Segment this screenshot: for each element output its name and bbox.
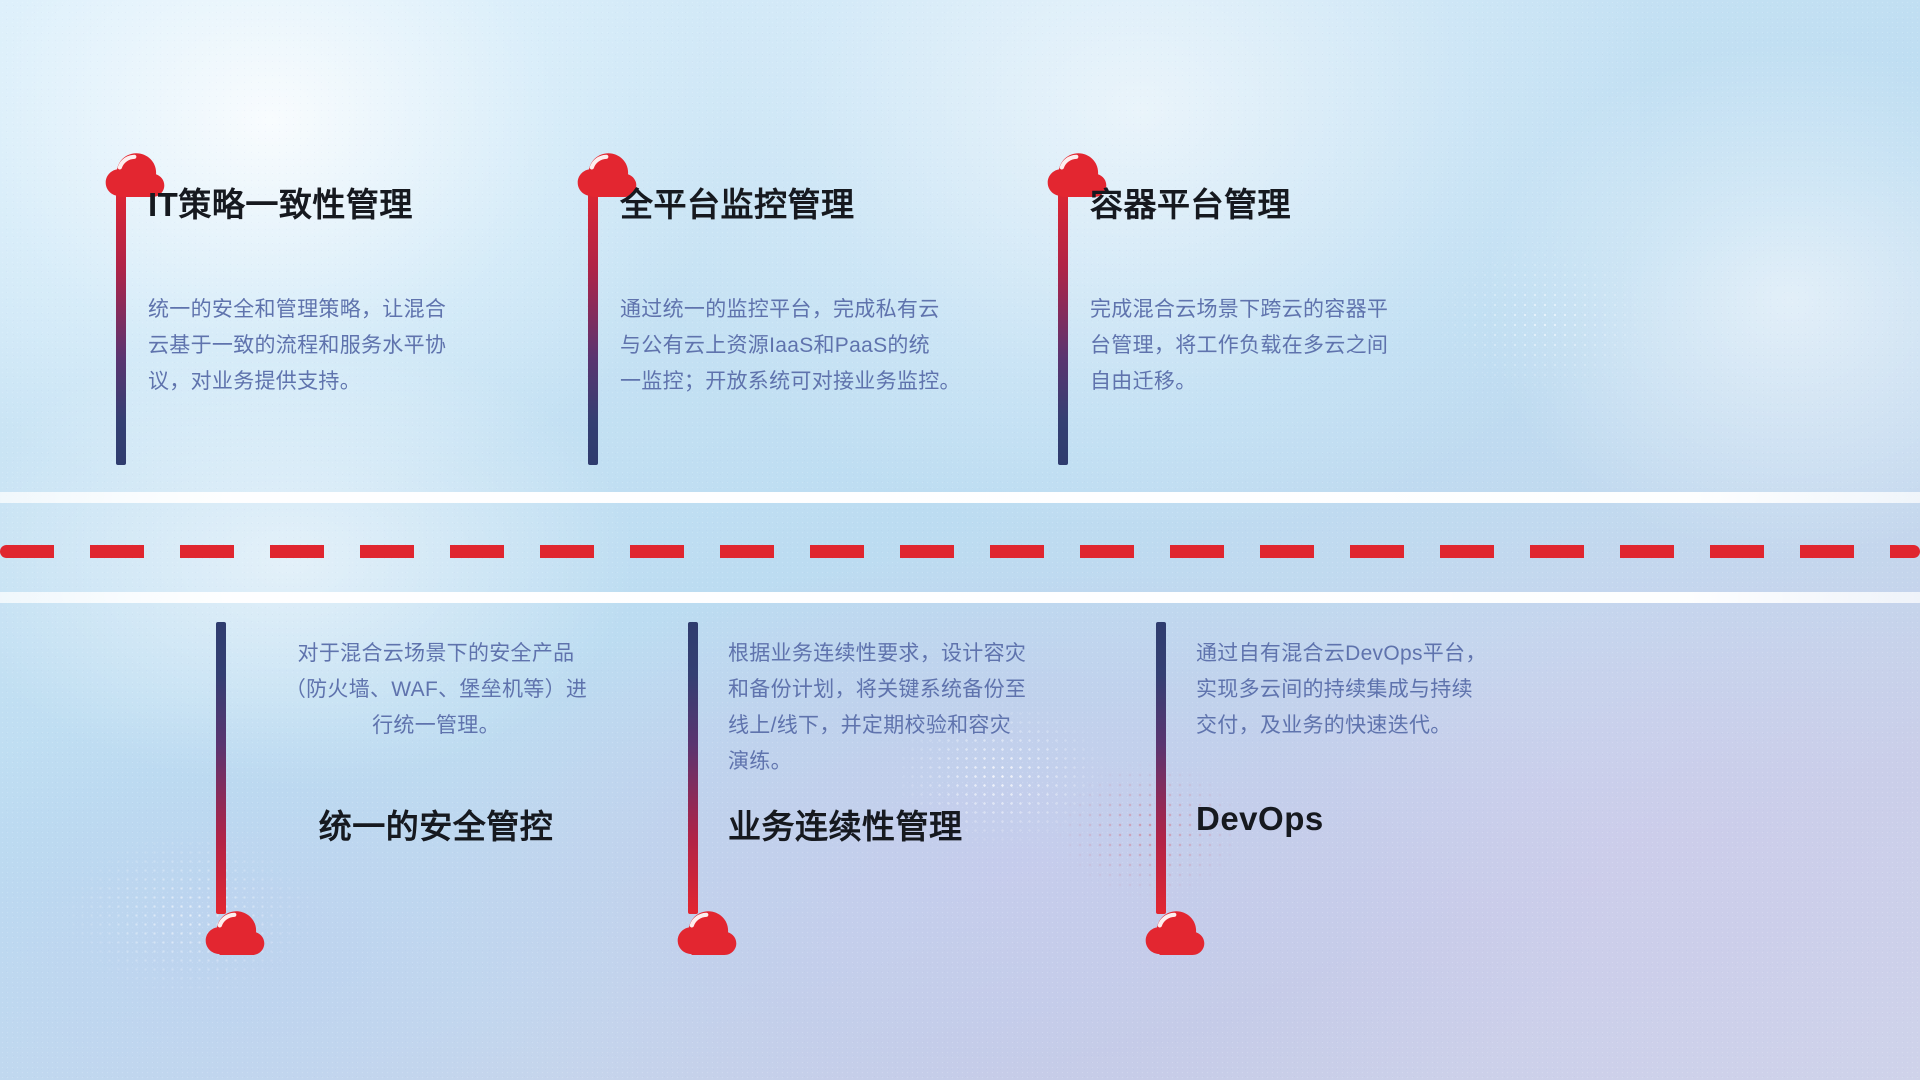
divider-band-bottom bbox=[0, 592, 1920, 603]
cloud-pin-icon bbox=[674, 904, 740, 958]
pin-unified-security bbox=[208, 622, 234, 932]
pin-devops bbox=[1148, 622, 1174, 932]
pin-it-policy-consistency bbox=[108, 160, 134, 465]
pin-stem bbox=[588, 182, 598, 465]
feature-description: 统一的安全和管理策略，让混合 云基于一致的流程和服务水平协 议，对业务提供支持。 bbox=[148, 292, 508, 400]
feature-description: 通过自有混合云DevOps平台， 实现多云间的持续集成与持续 交付，及业务的快速… bbox=[1196, 636, 1546, 744]
pin-stem bbox=[688, 622, 698, 914]
feature-description: 对于混合云场景下的安全产品 （防火墙、WAF、堡垒机等）进 行统一管理。 bbox=[256, 636, 616, 744]
feature-title: DevOps bbox=[1196, 800, 1546, 838]
pin-stem bbox=[116, 182, 126, 465]
cloud-pin-icon bbox=[202, 904, 268, 958]
feature-title: IT策略一致性管理 bbox=[148, 178, 413, 226]
feature-title: 全平台监控管理 bbox=[620, 178, 855, 226]
pin-stem bbox=[1156, 622, 1166, 914]
pin-container-platform bbox=[1050, 160, 1076, 465]
feature-title: 容器平台管理 bbox=[1090, 178, 1291, 226]
pin-full-platform-monitoring bbox=[580, 160, 606, 465]
feature-description: 根据业务连续性要求，设计容灾 和备份计划，将关键系统备份至 线上/线下，并定期校… bbox=[728, 636, 1078, 780]
cloud-pin-icon bbox=[1142, 904, 1208, 958]
pin-business-continuity bbox=[680, 622, 706, 932]
pin-stem bbox=[216, 622, 226, 914]
red-dashed-divider bbox=[0, 545, 1920, 558]
feature-description: 完成混合云场景下跨云的容器平 台管理，将工作负载在多云之间 自由迁移。 bbox=[1090, 292, 1465, 400]
pin-stem bbox=[1058, 182, 1068, 465]
divider-band-top bbox=[0, 492, 1920, 503]
dot-cluster-white-left bbox=[60, 830, 320, 1000]
feature-title: 统一的安全管控 bbox=[256, 800, 616, 848]
feature-title: 业务连续性管理 bbox=[728, 800, 1078, 848]
feature-description: 通过统一的监控平台，完成私有云 与公有云上资源IaaS和PaaS的统 一监控；开… bbox=[620, 292, 1020, 400]
infographic-canvas: IT策略一致性管理 统一的安全和管理策略，让混合 云基于一致的流程和服务水平协 … bbox=[0, 0, 1920, 1080]
